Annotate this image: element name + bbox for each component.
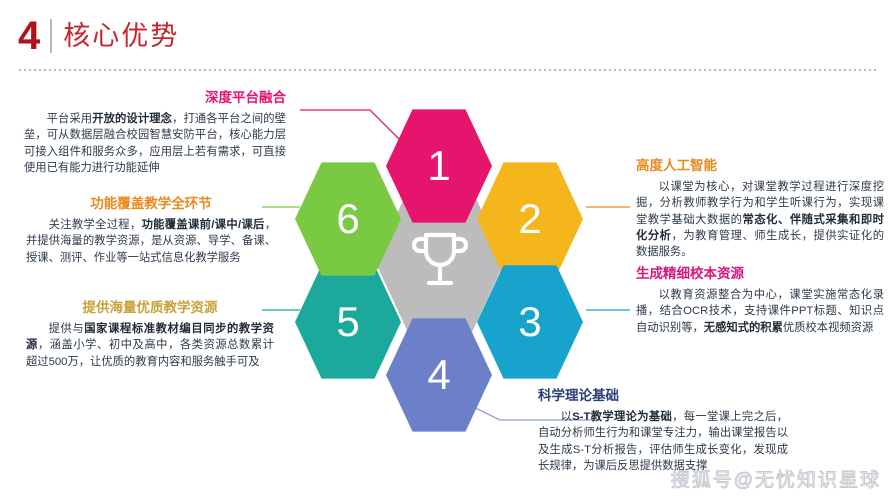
- hexagon-3-number: 3: [518, 301, 541, 343]
- feature-3-body: 以教育资源整合为中心，课堂实施常态化录播，结合OCR技术，支持课件PPT标题、知…: [636, 287, 884, 336]
- feature-block-2: 高度人工智能 以课堂为核心，对课堂教学过程进行深度挖掘，分析教师教学行为和学生听…: [636, 158, 884, 261]
- feature-block-4: 科学理论基础 以S-T教学理论为基础，每一堂课上完之后，自动分析师生行为和课堂专…: [538, 388, 788, 474]
- feature-block-1: 深度平台融合 平台采用开放的设计理念，打通各平台之间的壁垒，可从数据层融合校园智…: [24, 90, 286, 176]
- trophy-icon: [409, 229, 471, 293]
- feature-5-body: 提供与国家课程标准教材编目同步的教学资源，涵盖小学、初中及高中，各类资源总数累计…: [26, 321, 274, 370]
- header-dotted-rule: [19, 69, 876, 71]
- page-header: 4 核心优势: [18, 16, 179, 56]
- feature-2-body: 以课堂为核心，对课堂教学过程进行深度挖掘，分析教师教学行为和学生听课行为，实现课…: [636, 179, 884, 261]
- feature-1-body: 平台采用开放的设计理念，打通各平台之间的壁垒，可从数据层融合校园智慧安防平台，核…: [24, 111, 286, 177]
- hexagon-4[interactable]: 4: [386, 316, 492, 434]
- feature-6-title: 功能覆盖教学全环节: [26, 196, 276, 213]
- feature-3-title: 生成精细校本资源: [636, 266, 884, 283]
- header-divider: [50, 19, 52, 53]
- watermark: 搜狐号@无忧知识星球: [671, 465, 881, 492]
- feature-block-5: 提供海量优质教学资源 提供与国家课程标准教材编目同步的教学资源，涵盖小学、初中及…: [26, 300, 274, 370]
- hexagon-1-number: 1: [427, 145, 450, 187]
- section-number: 4: [18, 16, 39, 56]
- feature-5-title: 提供海量优质教学资源: [26, 300, 274, 317]
- feature-6-body: 关注教学全过程，功能覆盖课前/课中/课后，并提供海量的教学资源，是从资源、导学、…: [26, 217, 276, 266]
- hexagon-2-number: 2: [518, 198, 541, 240]
- hexagon-cluster: 1 2 3 4 5 6: [255, 100, 625, 420]
- feature-1-title: 深度平台融合: [24, 90, 286, 107]
- feature-block-3: 生成精细校本资源 以教育资源整合为中心，课堂实施常态化录播，结合OCR技术，支持…: [636, 266, 884, 336]
- feature-2-title: 高度人工智能: [636, 158, 884, 175]
- hexagon-5-number: 5: [336, 301, 359, 343]
- slide-root: 4 核心优势: [0, 0, 895, 500]
- feature-4-title: 科学理论基础: [538, 388, 788, 405]
- page-title: 核心优势: [63, 23, 179, 50]
- hexagon-6-number: 6: [336, 198, 359, 240]
- hexagon-4-number: 4: [427, 354, 450, 396]
- feature-block-6: 功能覆盖教学全环节 关注教学全过程，功能覆盖课前/课中/课后，并提供海量的教学资…: [26, 196, 276, 266]
